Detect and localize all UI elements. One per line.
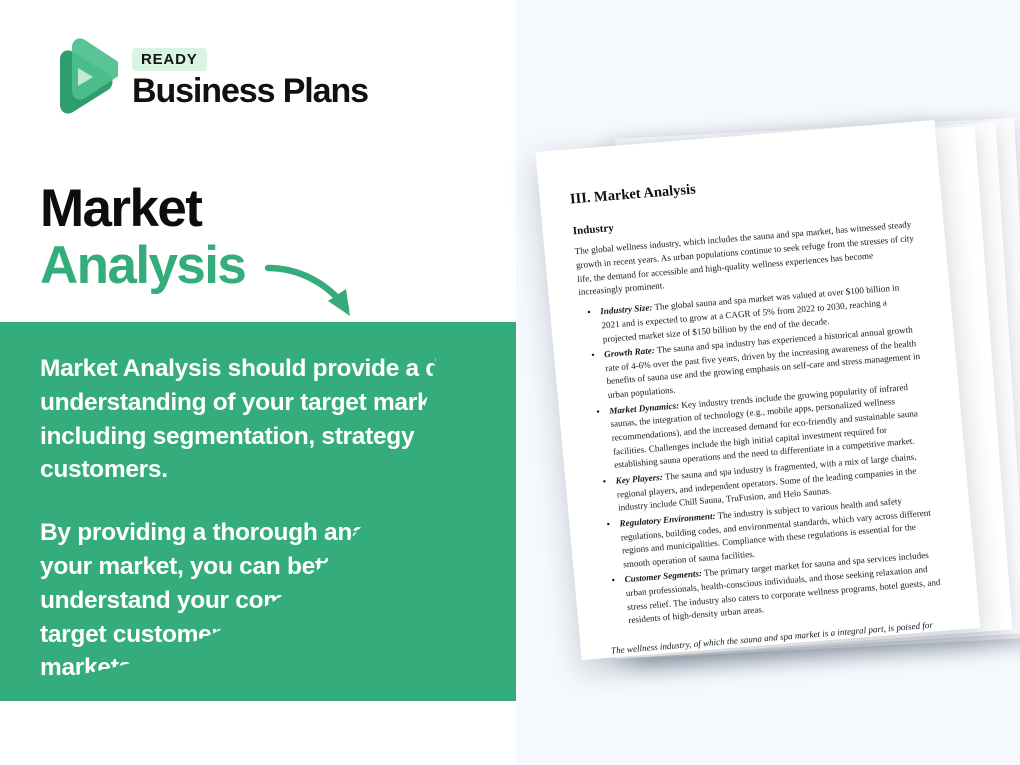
brand-name: Business Plans bbox=[132, 74, 368, 110]
bullet-term: Industry Size: bbox=[600, 302, 653, 316]
bullet-term: Key Players: bbox=[615, 472, 663, 486]
slide-canvas: READY Business Plans Market Analysis Mar… bbox=[0, 0, 1020, 765]
panel-paragraph-1: Market Analysis should provide a detaile… bbox=[40, 352, 516, 487]
document-stack[interactable]: growthent.21 andsize rate ofs ofunas,ns)… bbox=[500, 100, 1020, 680]
ready-badge: READY bbox=[132, 48, 207, 71]
brand-logo[interactable]: READY Business Plans bbox=[40, 33, 370, 125]
page-title: Market Analysis bbox=[40, 180, 470, 294]
page-title-line-1: Market bbox=[40, 180, 470, 237]
document-bullet-list: Industry Size: The global sauna and spa … bbox=[580, 280, 948, 630]
bullet-term: Growth Rate: bbox=[604, 345, 656, 359]
panel-paragraph-2: By providing a thorough analysis of your… bbox=[40, 516, 485, 685]
double-play-triangle-icon bbox=[40, 37, 118, 121]
document-page-front[interactable]: III. Market Analysis Industry The global… bbox=[536, 120, 981, 660]
description-panel: Market Analysis should provide a detaile… bbox=[0, 322, 516, 701]
page-title-line-2: Analysis bbox=[40, 237, 470, 294]
